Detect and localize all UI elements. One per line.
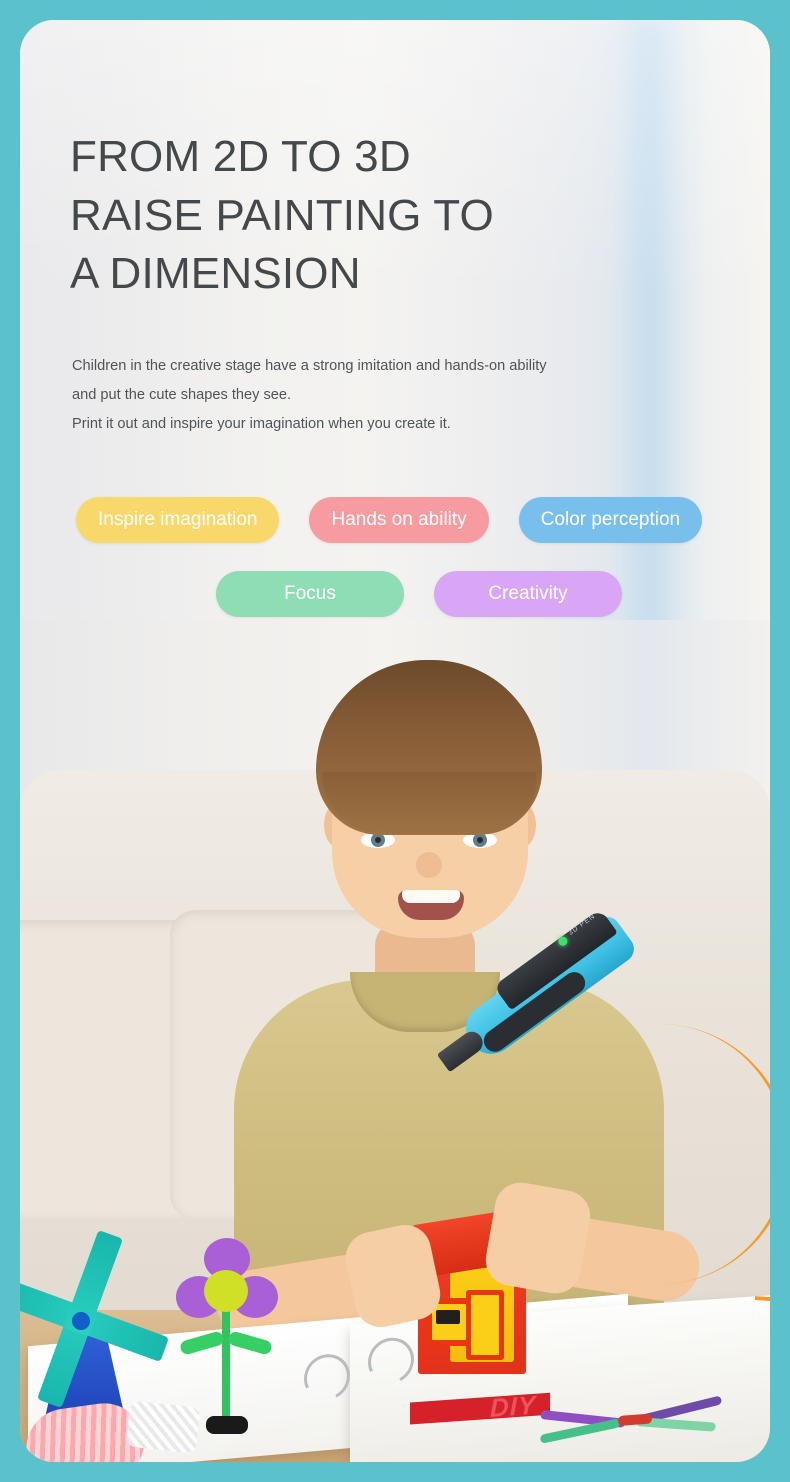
boy-nose [416,852,442,878]
flower-center [204,1270,248,1312]
dragonfly-model [540,1393,740,1453]
benefit-pill-row-2: Focus Creativity [216,571,622,617]
promo-card: FROM 2D TO 3D RAISE PAINTING TO A DIMENS… [20,20,770,1462]
benefit-pill-hands-on-ability: Hands on ability [309,497,488,543]
white-lace-model [126,1400,200,1453]
boy-mouth [398,890,464,920]
benefit-pill-creativity: Creativity [434,571,622,617]
lifestyle-photo: DIY [20,620,770,1462]
hero-paragraph: Children in the creative stage have a st… [72,352,672,440]
page-title: FROM 2D TO 3D RAISE PAINTING TO A DIMENS… [70,128,690,304]
boy-teeth [402,890,460,903]
boy-hand-right [482,1178,595,1297]
flower-leaf [179,1330,225,1356]
windmill-hub [72,1312,90,1330]
benefit-pill-color-perception: Color perception [519,497,702,543]
house-door [466,1290,504,1360]
flower-base [206,1416,248,1434]
benefit-pill-focus: Focus [216,571,404,617]
page-frame: FROM 2D TO 3D RAISE PAINTING TO A DIMENS… [0,0,790,1482]
filament-strand [576,1024,770,1284]
benefit-pill-row-1: Inspire imagination Hands on ability Col… [76,497,702,543]
benefit-pill-inspire-imagination: Inspire imagination [76,497,279,543]
notebook-diy-text: DIY [490,1390,536,1424]
notebook-filament-squiggle [746,1296,770,1371]
flower-leaf [227,1330,273,1356]
